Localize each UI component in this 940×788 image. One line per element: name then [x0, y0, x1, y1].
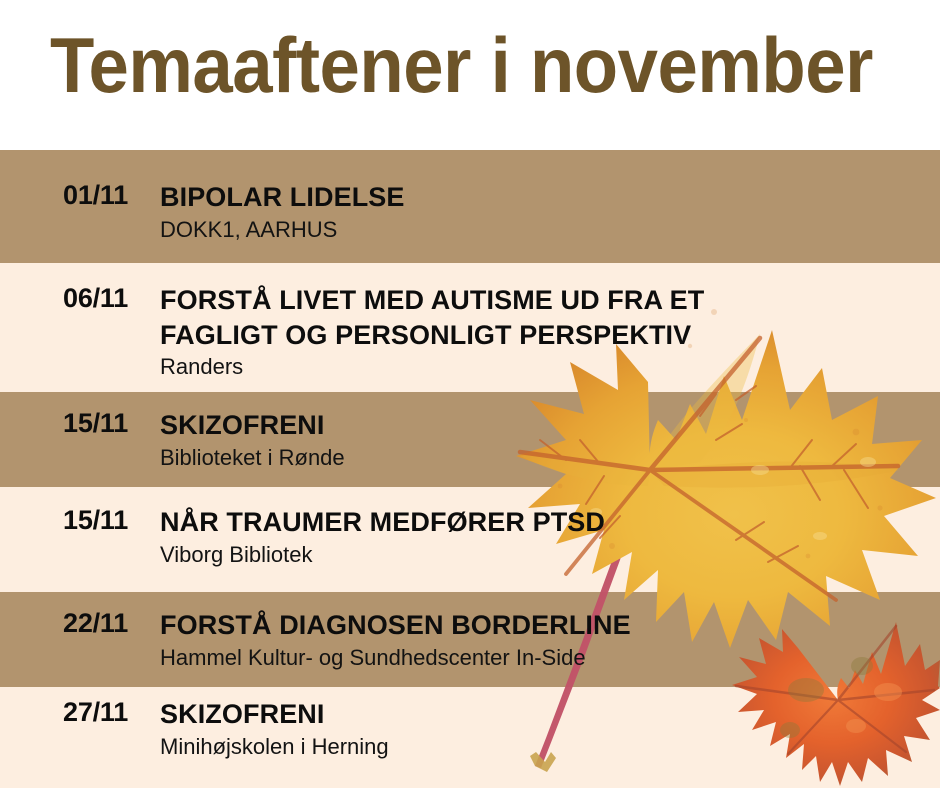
event-body: NÅR TRAUMER MEDFØRER PTSD Viborg Bibliot… [160, 505, 940, 569]
list-item: 06/11 FORSTÅ LIVET MED AUTISME UD FRA ET… [0, 283, 940, 382]
page-title: Temaaftener i november [50, 26, 873, 104]
event-venue: Viborg Bibliotek [160, 541, 940, 570]
event-body: SKIZOFRENI Biblioteket i Rønde [160, 408, 940, 472]
poster-canvas: Temaaftener i november 01/11 BIPOLAR LID… [0, 0, 940, 788]
event-date: 22/11 [0, 608, 160, 639]
event-venue: DOKK1, AARHUS [160, 216, 940, 245]
event-body: FORSTÅ DIAGNOSEN BORDERLINE Hammel Kultu… [160, 608, 940, 672]
event-date: 06/11 [0, 283, 160, 314]
event-date: 01/11 [0, 180, 160, 211]
event-body: FORSTÅ LIVET MED AUTISME UD FRA ET FAGLI… [160, 283, 940, 382]
event-title: NÅR TRAUMER MEDFØRER PTSD [160, 505, 940, 540]
event-title: FORSTÅ DIAGNOSEN BORDERLINE [160, 608, 940, 643]
event-title: FORSTÅ LIVET MED AUTISME UD FRA ET FAGLI… [160, 283, 940, 352]
event-title: SKIZOFRENI [160, 697, 940, 732]
list-item: 22/11 FORSTÅ DIAGNOSEN BORDERLINE Hammel… [0, 608, 940, 672]
list-item: 01/11 BIPOLAR LIDELSE DOKK1, AARHUS [0, 180, 940, 244]
event-venue: Minihøjskolen i Herning [160, 733, 940, 762]
list-item: 15/11 SKIZOFRENI Biblioteket i Rønde [0, 408, 940, 472]
event-date: 15/11 [0, 408, 160, 439]
event-body: SKIZOFRENI Minihøjskolen i Herning [160, 697, 940, 761]
list-item: 27/11 SKIZOFRENI Minihøjskolen i Herning [0, 697, 940, 761]
title-area: Temaaftener i november [0, 0, 940, 150]
event-date: 15/11 [0, 505, 160, 536]
event-date: 27/11 [0, 697, 160, 728]
event-venue: Randers [160, 353, 940, 382]
event-venue: Hammel Kultur- og Sundhedscenter In-Side [160, 644, 940, 673]
event-title: BIPOLAR LIDELSE [160, 180, 940, 215]
event-venue: Biblioteket i Rønde [160, 444, 940, 473]
list-item: 15/11 NÅR TRAUMER MEDFØRER PTSD Viborg B… [0, 505, 940, 569]
event-title: SKIZOFRENI [160, 408, 940, 443]
event-body: BIPOLAR LIDELSE DOKK1, AARHUS [160, 180, 940, 244]
